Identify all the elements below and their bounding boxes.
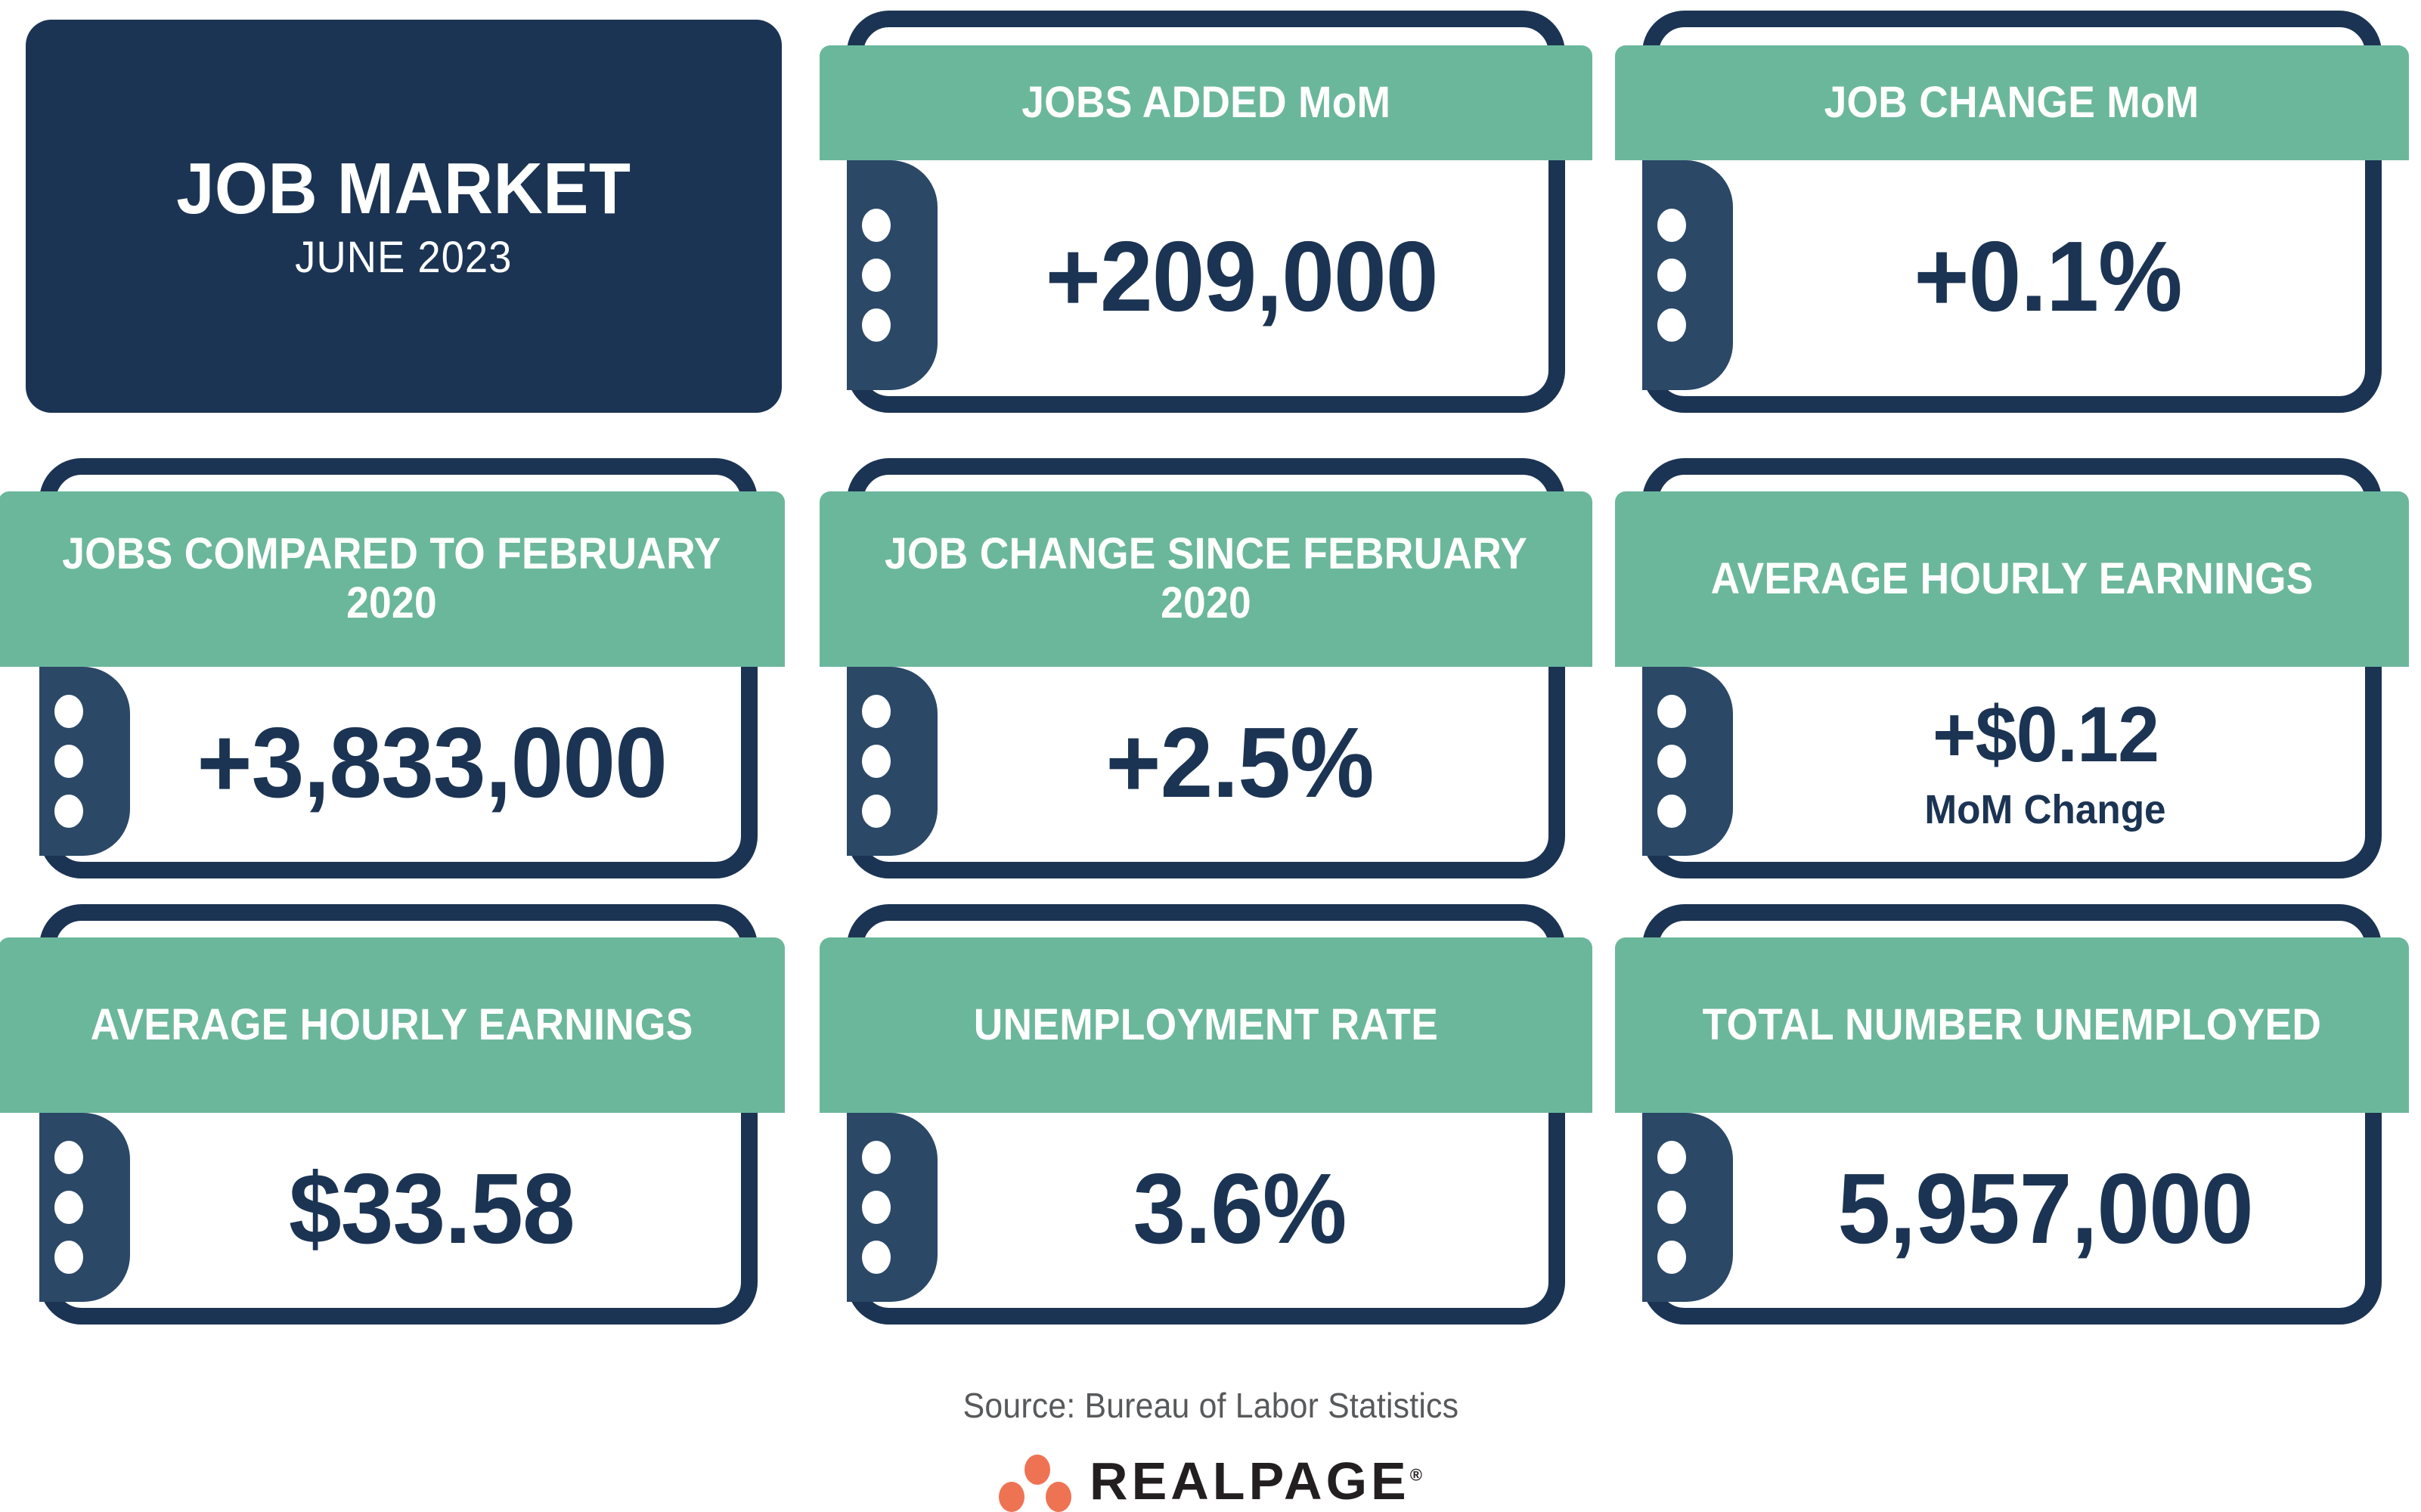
card-value: 5,957,000	[1837, 1159, 2252, 1259]
card-header-label: JOB CHANGE MoM	[1806, 79, 2218, 128]
card-header-band: AVERAGE HOURLY EARNINGS	[0, 937, 785, 1113]
card-value: $33.58	[289, 1159, 575, 1259]
realpage-dots-icon	[999, 1455, 1077, 1507]
card-body: +$0.12 MoM Change	[1724, 667, 2367, 859]
card-header-band: UNEMPLOYMENT RATE	[820, 937, 1592, 1113]
stat-card-jobs-compared-to-february-2020: JOBS COMPARED TO FEBRUARY 2020 +3,833,00…	[39, 458, 758, 878]
card-side-tab	[39, 667, 130, 856]
card-side-tab	[1642, 160, 1733, 390]
logo-dot-top-icon	[1025, 1455, 1050, 1485]
tab-dot-icon	[54, 695, 83, 728]
stat-card-job-change-mom: JOB CHANGE MoM +0.1%	[1642, 11, 2382, 413]
logo-dot-bottom-left-icon	[999, 1482, 1025, 1512]
stat-card-unemployment-rate: UNEMPLOYMENT RATE 3.6%	[847, 904, 1565, 1325]
realpage-logo: REALPAGE®	[999, 1455, 1422, 1507]
tab-dot-icon	[54, 1241, 83, 1274]
card-header-label: TOTAL NUMBER UNEMPLOYED	[1685, 1001, 2339, 1050]
tab-dot-icon	[1657, 308, 1686, 342]
card-header-band: TOTAL NUMBER UNEMPLOYED	[1615, 937, 2409, 1113]
tab-dot-icon	[54, 745, 83, 778]
card-side-tab	[847, 667, 938, 856]
tab-dot-icon	[54, 795, 83, 828]
realpage-wordmark: REALPAGE®	[1090, 1455, 1422, 1507]
card-side-tab	[1642, 1113, 1733, 1302]
card-header-label: AVERAGE HOURLY EARNINGS	[73, 1001, 711, 1050]
tab-dot-icon	[1657, 745, 1686, 778]
tab-dot-icon	[1657, 209, 1686, 242]
card-side-tab	[847, 1113, 938, 1302]
tab-dot-icon	[862, 695, 891, 728]
registered-trademark-icon: ®	[1410, 1466, 1422, 1485]
card-side-tab	[1642, 667, 1733, 856]
card-body: 3.6%	[928, 1113, 1550, 1305]
tab-dot-icon	[862, 259, 891, 292]
card-header-band: JOB CHANGE MoM	[1615, 45, 2409, 160]
stat-card-average-hourly-earnings-mom: AVERAGE HOURLY EARNINGS +$0.12 MoM Chang…	[1642, 458, 2382, 878]
logo-dot-bottom-right-icon	[1046, 1482, 1071, 1512]
tab-dot-icon	[1657, 1141, 1686, 1174]
card-value: +0.1%	[1914, 227, 2181, 327]
card-body: +209,000	[938, 160, 1545, 393]
card-value: +3,833,000	[197, 713, 667, 813]
card-value: 3.6%	[1133, 1159, 1346, 1259]
card-value: +2.5%	[1105, 713, 1373, 813]
stat-card-total-number-unemployed: TOTAL NUMBER UNEMPLOYED 5,957,000	[1642, 904, 2382, 1325]
tab-dot-icon	[1657, 695, 1686, 728]
card-header-label: AVERAGE HOURLY EARNINGS	[1693, 555, 2332, 604]
card-value: +209,000	[1046, 227, 1438, 327]
card-body: 5,957,000	[1724, 1113, 2367, 1305]
tab-dot-icon	[862, 308, 891, 342]
card-side-tab	[39, 1113, 130, 1302]
page-subtitle: JUNE 2023	[295, 236, 512, 280]
tab-dot-icon	[1657, 259, 1686, 292]
realpage-wordmark-text: REALPAGE	[1090, 1452, 1410, 1510]
card-body: +3,833,000	[121, 667, 742, 859]
stat-card-average-hourly-earnings: AVERAGE HOURLY EARNINGS $33.58	[39, 904, 758, 1325]
card-body: +0.1%	[1733, 160, 2362, 393]
card-subvalue: MoM Change	[1924, 789, 2165, 830]
stat-card-job-change-since-february-2020: JOB CHANGE SINCE FEBRUARY 2020 +2.5%	[847, 458, 1565, 878]
tab-dot-icon	[54, 1141, 83, 1174]
card-header-band: JOBS ADDED MoM	[820, 45, 1592, 160]
card-header-label: JOBS COMPARED TO FEBRUARY 2020	[30, 530, 754, 628]
tab-dot-icon	[862, 1141, 891, 1174]
stat-card-jobs-added-mom: JOBS ADDED MoM +209,000	[847, 11, 1565, 413]
card-header-band: JOBS COMPARED TO FEBRUARY 2020	[0, 491, 785, 667]
card-body: $33.58	[121, 1113, 742, 1305]
title-card: JOB MARKET JUNE 2023	[26, 20, 782, 413]
footer: Source: Bureau of Labor Statistics REALP…	[0, 1385, 2421, 1507]
tab-dot-icon	[862, 795, 891, 828]
infographic-board: JOB MARKET JUNE 2023 JOBS ADDED MoM +209…	[0, 0, 2421, 1502]
card-side-tab	[847, 160, 938, 390]
card-header-label: UNEMPLOYMENT RATE	[956, 1001, 1456, 1050]
source-attribution: Source: Bureau of Labor Statistics	[963, 1385, 1458, 1426]
card-body: +2.5%	[928, 667, 1550, 859]
tab-dot-icon	[54, 1191, 83, 1224]
tab-dot-icon	[862, 745, 891, 778]
tab-dot-icon	[1657, 1241, 1686, 1274]
card-header-label: JOBS ADDED MoM	[1003, 79, 1409, 128]
tab-dot-icon	[862, 209, 891, 242]
card-header-label: JOB CHANGE SINCE FEBRUARY 2020	[851, 530, 1561, 628]
tab-dot-icon	[862, 1241, 891, 1274]
card-header-band: JOB CHANGE SINCE FEBRUARY 2020	[820, 491, 1592, 667]
card-header-band: AVERAGE HOURLY EARNINGS	[1615, 491, 2409, 667]
page-title: JOB MARKET	[176, 153, 631, 225]
tab-dot-icon	[1657, 1191, 1686, 1224]
tab-dot-icon	[1657, 795, 1686, 828]
tab-dot-icon	[862, 1191, 891, 1224]
card-value: +$0.12	[1932, 696, 2158, 774]
